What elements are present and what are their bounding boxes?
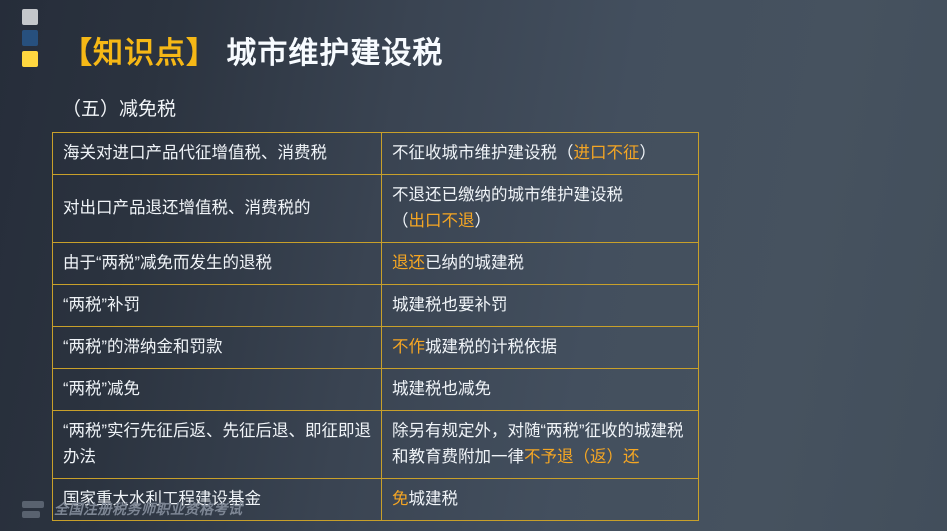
cell-text: 不退还已缴纳的城市维护建设税 — [392, 186, 623, 204]
cell-text: 已纳的城建税 — [425, 254, 524, 272]
table-row: “两税”减免城建税也减免 — [53, 369, 699, 411]
page-title: 【知识点】 城市维护建设税 — [62, 34, 443, 74]
table-cell-treatment: 不作城建税的计税依据 — [382, 327, 699, 369]
table-row: “两税”补罚城建税也要补罚 — [53, 285, 699, 327]
table-cell-treatment: 不退还已缴纳的城市维护建设税（出口不退） — [382, 175, 699, 243]
decor-square-gray — [22, 9, 38, 25]
table-cell-condition: “两税”实行先征后返、先征后退、即征即退办法 — [53, 411, 382, 479]
footer-bar: 全国注册税务师职业资格考试 — [0, 487, 947, 531]
table-cell-treatment: 城建税也减免 — [382, 369, 699, 411]
book-bars-icon-bar-top — [22, 501, 44, 508]
cell-text: 城建税的计税依据 — [425, 338, 557, 356]
table-cell-condition: 对出口产品退还增值税、消费税的 — [53, 175, 382, 243]
cell-text: ） — [640, 144, 657, 162]
table-row: 海关对进口产品代征增值税、消费税不征收城市维护建设税（进口不征） — [53, 133, 699, 175]
knowledge-table: 海关对进口产品代征增值税、消费税不征收城市维护建设税（进口不征）对出口产品退还增… — [52, 132, 699, 521]
cell-text: 城建税也减免 — [392, 380, 491, 398]
table-cell-condition: “两税”的滞纳金和罚款 — [53, 327, 382, 369]
table-row: 由于“两税”减免而发生的退税退还已纳的城建税 — [53, 243, 699, 285]
decor-square-yellow — [22, 51, 38, 67]
table-row: “两税”的滞纳金和罚款不作城建税的计税依据 — [53, 327, 699, 369]
table-cell-condition: 海关对进口产品代征增值税、消费税 — [53, 133, 382, 175]
table-cell-condition: “两税”减免 — [53, 369, 382, 411]
table-cell-condition: 由于“两税”减免而发生的退税 — [53, 243, 382, 285]
cell-text: 城建税也要补罚 — [392, 296, 508, 314]
knowledge-table-wrapper: 海关对进口产品代征增值税、消费税不征收城市维护建设税（进口不征）对出口产品退还增… — [52, 132, 656, 521]
table-cell-treatment: 退还已纳的城建税 — [382, 243, 699, 285]
cell-text: （ — [392, 212, 409, 230]
highlighted-term: 退还 — [392, 254, 425, 272]
book-bars-icon-bar-bottom — [22, 511, 40, 518]
page-title-main: 城市维护建设税 — [217, 37, 443, 70]
cell-text: ） — [475, 212, 492, 230]
table-row: 对出口产品退还增值税、消费税的不退还已缴纳的城市维护建设税（出口不退） — [53, 175, 699, 243]
decor-square-blue — [22, 30, 38, 46]
highlighted-term: 不予退（返）还 — [524, 448, 640, 466]
footer-exam-label: 全国注册税务师职业资格考试 — [54, 499, 243, 519]
table-cell-treatment: 不征收城市维护建设税（进口不征） — [382, 133, 699, 175]
table-cell-treatment: 除另有规定外，对随“两税”征收的城建税和教育费附加一律不予退（返）还 — [382, 411, 699, 479]
table-cell-treatment: 城建税也要补罚 — [382, 285, 699, 327]
slide-canvas: 【知识点】 城市维护建设税 （五）减免税 海关对进口产品代征增值税、消费税不征收… — [0, 0, 947, 531]
decor-square-stack — [22, 9, 38, 72]
cell-text: 不征收城市维护建设税（ — [392, 144, 574, 162]
highlighted-term: 出口不退 — [409, 212, 475, 230]
table-cell-condition: “两税”补罚 — [53, 285, 382, 327]
highlighted-term: 进口不征 — [574, 144, 640, 162]
page-title-bracket: 【知识点】 — [62, 37, 217, 70]
book-bars-icon — [22, 501, 44, 518]
table-row: “两税”实行先征后返、先征后退、即征即退办法除另有规定外，对随“两税”征收的城建… — [53, 411, 699, 479]
section-subtitle: （五）减免税 — [62, 98, 176, 122]
highlighted-term: 不作 — [392, 338, 425, 356]
